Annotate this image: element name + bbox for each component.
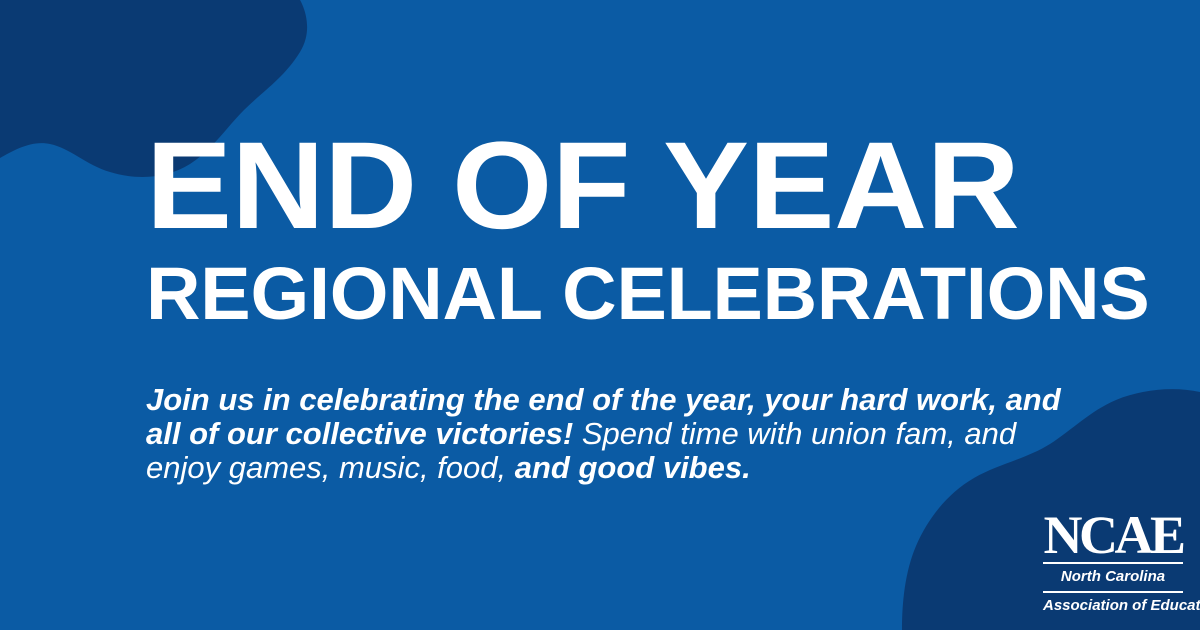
content-layer: END OF YEAR REGIONAL CELEBRATIONS Join u… (0, 0, 1200, 630)
logo-divider-bottom (1043, 591, 1183, 593)
body-line-2-regular-text: Spend time with union fam, and (582, 416, 1016, 451)
body-copy: Join us in celebrating the end of the ye… (146, 383, 1096, 485)
body-line-1: Join us in celebrating the end of the ye… (146, 383, 1096, 417)
promo-graphic: END OF YEAR REGIONAL CELEBRATIONS Join u… (0, 0, 1200, 630)
body-line-2: all of our collective victories! Spend t… (146, 417, 1096, 451)
ncae-logo-mark: NCAE (1043, 513, 1183, 557)
body-line-1-text: Join us in celebrating the end of the ye… (146, 382, 1061, 417)
headline-line-1: END OF YEAR (146, 132, 1113, 241)
body-line-3-bold-text: and good vibes. (515, 450, 751, 485)
headline-line-2: REGIONAL CELEBRATIONS (146, 257, 1095, 331)
body-line-3-regular-text: enjoy games, music, food, (146, 450, 506, 485)
logo-subtitle-line-1: North Carolina (1043, 567, 1183, 586)
body-line-2-bold-text: all of our collective victories! (146, 416, 573, 451)
headline: END OF YEAR REGIONAL CELEBRATIONS (146, 132, 1076, 331)
body-line-3: enjoy games, music, food, and good vibes… (146, 451, 1096, 485)
ncae-logo: NCAE North Carolina Association of Educa… (1043, 513, 1183, 615)
logo-subtitle-line-2: Association of Educators (1043, 596, 1183, 615)
